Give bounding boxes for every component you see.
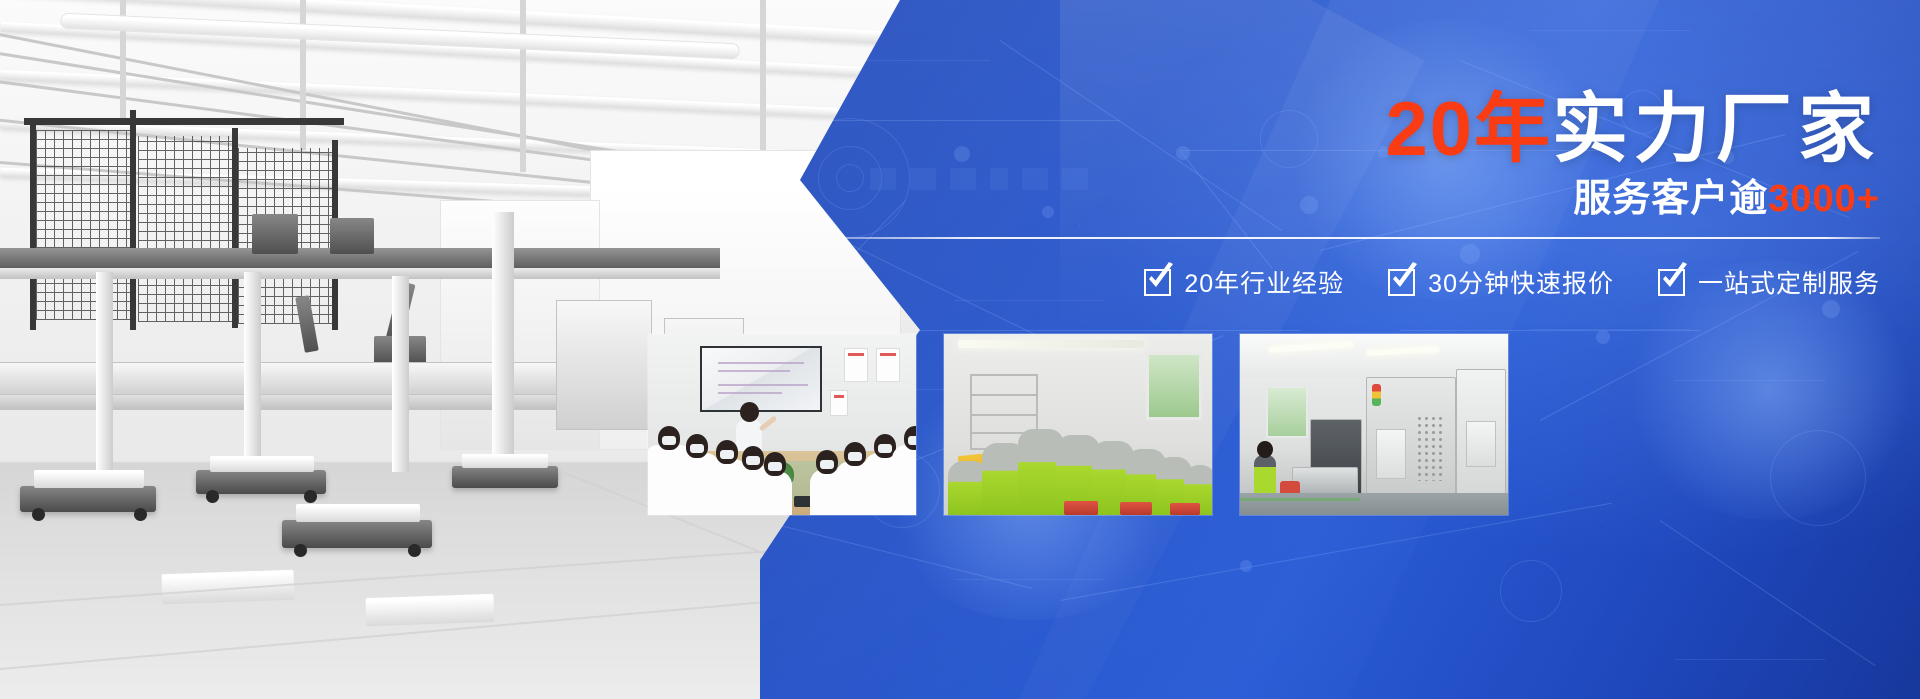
feature-label: 一站式定制服务 <box>1698 264 1880 300</box>
feature-label: 20年行业经验 <box>1184 264 1344 300</box>
thumbnail-gallery <box>648 334 1508 515</box>
subtitle-main: 服务客户逾 <box>1573 178 1768 220</box>
lift-column-4 <box>492 212 514 462</box>
cnc-machine-door <box>1376 429 1406 479</box>
horizontal-divider <box>775 237 1880 239</box>
agv-wheel <box>206 490 219 503</box>
attendee <box>758 471 792 515</box>
feature-label: 30分钟快速报价 <box>1428 264 1614 300</box>
agv-load-4 <box>462 454 548 468</box>
agv-wheel <box>304 490 317 503</box>
stainless-bench <box>1292 467 1358 495</box>
agv-wheel <box>32 508 45 521</box>
cnc-machine-shop-photo[interactable] <box>1240 334 1508 515</box>
cnc-ventilation-grille <box>1416 415 1444 481</box>
promo-banner: 20年实力厂家 服务客户逾3000+ 20年行业经验 <box>0 0 1920 699</box>
checkbox-checked-icon <box>1658 269 1685 296</box>
subtitle-accent-count: 3000+ <box>1768 178 1880 220</box>
wall-poster <box>876 348 900 382</box>
red-stool <box>1170 503 1200 515</box>
checkbox-checked-icon <box>1388 269 1415 296</box>
lift-column-1 <box>96 272 113 472</box>
meeting-room-photo[interactable] <box>648 334 916 515</box>
workshop-window <box>1146 352 1202 420</box>
attendee <box>892 445 916 515</box>
banner-subtitle: 服务客户逾3000+ <box>1573 180 1880 218</box>
lift-column-2 <box>244 272 261 472</box>
steel-rack-top-rail <box>24 118 344 125</box>
agv-cart-4 <box>452 466 558 488</box>
assembly-line-workers-photo[interactable] <box>944 334 1212 515</box>
projector-screen <box>700 346 822 412</box>
feature-item-custom-service: 一站式定制服务 <box>1658 264 1880 300</box>
feature-item-experience: 20年行业经验 <box>1144 264 1344 300</box>
agv-load-3 <box>296 504 420 522</box>
headline-accent: 20年 <box>1385 87 1552 172</box>
wall-poster <box>844 348 868 382</box>
machine-status-lamp <box>1372 384 1381 406</box>
feature-list: 20年行业经验 30分钟快速报价 一站式定制服务 <box>1144 264 1880 300</box>
feature-item-quote-speed: 30分钟快速报价 <box>1388 264 1614 300</box>
wall-poster <box>830 390 848 416</box>
floor-pallet-2 <box>366 594 495 626</box>
red-stool <box>1120 502 1152 515</box>
ceiling-light <box>958 340 1144 348</box>
agv-load-1 <box>34 470 144 488</box>
cnc-secondary-panel <box>1466 421 1496 467</box>
red-stool <box>1064 501 1098 515</box>
steel-mesh-guard-2 <box>138 136 232 322</box>
machine-table-right <box>556 300 652 430</box>
gantry-robot-1 <box>252 214 298 254</box>
steel-mesh-guard-1 <box>36 130 130 320</box>
checkbox-checked-icon <box>1144 269 1171 296</box>
floor-marking <box>1240 498 1360 501</box>
agv-cart-3 <box>282 520 432 548</box>
page-title: 20年实力厂家 <box>1385 92 1880 168</box>
agv-wheel <box>408 544 421 557</box>
agv-load-2 <box>210 456 314 472</box>
shop-floor <box>1240 493 1508 515</box>
lift-column-3 <box>392 276 409 472</box>
headline-main: 实力厂家 <box>1552 87 1880 172</box>
agv-wheel <box>134 508 147 521</box>
shop-window <box>1266 386 1308 438</box>
operator-person <box>1254 455 1276 495</box>
gantry-robot-2 <box>330 218 374 254</box>
agv-wheel <box>294 544 307 557</box>
steel-rack-frame-2 <box>130 110 136 330</box>
